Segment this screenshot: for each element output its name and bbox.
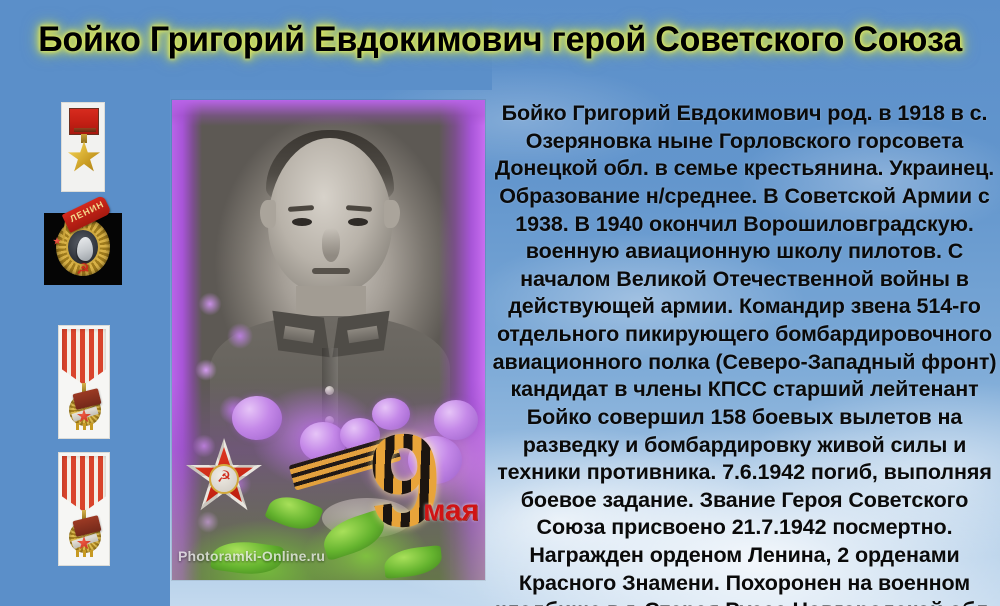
medal-order-red-banner-2: [58, 452, 110, 566]
red-banner-base-icon: [74, 550, 96, 557]
lilac-blossom: [232, 396, 282, 440]
portrait-mouth: [312, 268, 350, 274]
gold-star-icon: [68, 141, 100, 173]
portrait-ear-right: [384, 200, 400, 228]
medal-order-of-lenin: ЛЕНИН ☭: [44, 213, 122, 285]
portrait-eye-right: [348, 218, 368, 226]
victory-day-month: мая: [423, 494, 479, 528]
biography-text: Бойко Григорий Евдокимович род. в 1918 в…: [492, 100, 997, 606]
gold-star-ribbon-icon: [69, 108, 99, 135]
medal-gold-star: [61, 102, 105, 192]
red-banner-base-icon: [74, 423, 96, 430]
hammer-sickle-icon: ☭: [211, 470, 237, 486]
lenin-profile-icon: [77, 237, 93, 261]
red-banner-badge-icon: [68, 517, 102, 557]
medal-order-red-banner-1: [58, 325, 110, 439]
memorial-poster: Бойко Григорий Евдокимович герой Советск…: [0, 0, 1000, 606]
frame-purple-edge-top: [172, 100, 485, 126]
red-banner-ribbon-icon: [62, 456, 106, 512]
red-banner-ribbon-icon: [62, 329, 106, 385]
portrait-nose: [322, 228, 340, 262]
page-title: Бойко Григорий Евдокимович герой Советск…: [38, 20, 962, 60]
portrait-photo-card: ☭ 9 мая Photoramki-Online.ru: [172, 100, 485, 580]
green-leaf: [264, 489, 323, 536]
red-banner-badge-icon: [68, 390, 102, 430]
order-patriotic-war-icon: ☭: [186, 438, 262, 514]
hammer-sickle-icon: ☭: [75, 263, 91, 277]
portrait-ear-left: [260, 200, 276, 228]
photo-bottom-collage: ☭ 9 мая Photoramki-Online.ru: [172, 380, 485, 580]
patriotic-war-center-disc: ☭: [209, 464, 239, 494]
portrait-eye-left: [292, 218, 312, 226]
watermark-text: Photoramki-Online.ru: [178, 548, 325, 564]
poster-title-bar: Бойко Григорий Евдокимович герой Советск…: [0, 12, 1000, 68]
